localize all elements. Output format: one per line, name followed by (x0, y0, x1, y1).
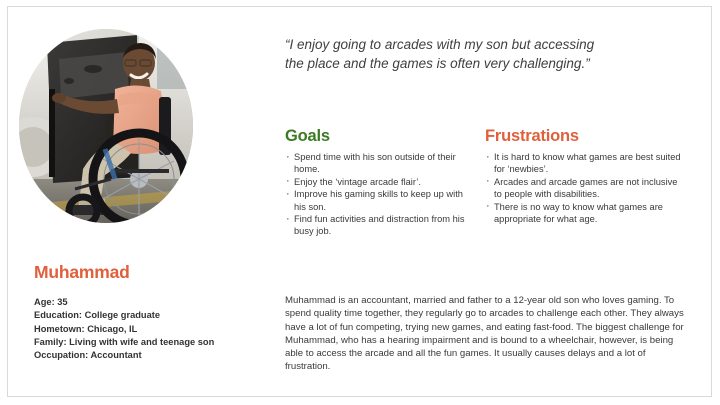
list-item: It is hard to know what games are best s… (485, 151, 685, 176)
detail-hometown: Hometown: Chicago, IL (34, 323, 274, 336)
persona-quote: “I enjoy going to arcades with my son bu… (285, 35, 615, 73)
list-item: Find fun activities and distraction from… (285, 213, 470, 238)
goals-section: Goals Spend time with his son outside of… (285, 127, 470, 238)
wheelchair-user-photo (19, 29, 193, 223)
list-item: Spend time with his son outside of their… (285, 151, 470, 176)
list-item: Enjoy the ‘vintage arcade flair’. (285, 176, 470, 188)
detail-family: Family: Living with wife and teenage son (34, 336, 274, 349)
list-item: Improve his gaming skills to keep up wit… (285, 188, 470, 213)
persona-name: Muhammad (34, 262, 130, 283)
detail-education: Education: College graduate (34, 309, 274, 322)
frustrations-section: Frustrations It is hard to know what gam… (485, 127, 685, 225)
persona-details: Age: 35 Education: College graduate Home… (34, 296, 274, 362)
goals-title: Goals (285, 127, 470, 146)
persona-slide: “I enjoy going to arcades with my son bu… (7, 6, 712, 397)
list-item: Arcades and arcade games are not inclusi… (485, 176, 685, 201)
persona-bio: Muhammad is an accountant, married and f… (285, 294, 687, 374)
list-item: There is no way to know what games are a… (485, 201, 685, 226)
detail-occupation: Occupation: Accountant (34, 349, 274, 362)
persona-photo (19, 29, 193, 223)
frustrations-list: It is hard to know what games are best s… (485, 151, 685, 225)
frustrations-title: Frustrations (485, 127, 685, 146)
detail-age: Age: 35 (34, 296, 274, 309)
goals-list: Spend time with his son outside of their… (285, 151, 470, 238)
